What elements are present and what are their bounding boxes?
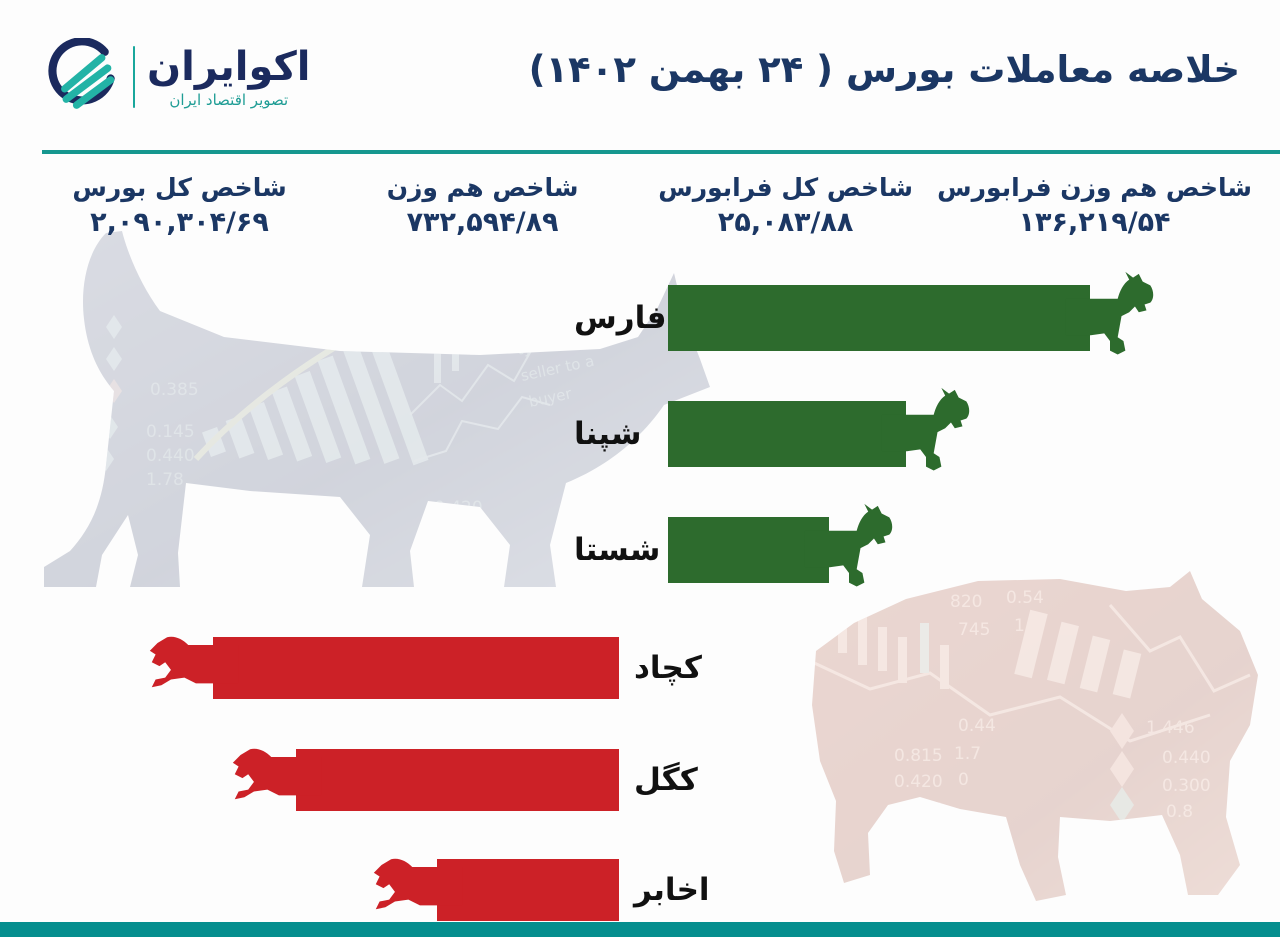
bar-label: اخابر bbox=[634, 872, 710, 908]
stat-value: ۲۵,۰۸۳/۸۸ bbox=[634, 207, 937, 239]
brand-name: اکوایران bbox=[147, 46, 311, 88]
chart-row-loser-2: کگل bbox=[0, 732, 1280, 828]
bar-label: شپنا bbox=[574, 416, 641, 452]
chart-row-gainer-3: شستا bbox=[0, 502, 1280, 598]
infographic-page: arkets me te transfer oney of a ock or s… bbox=[0, 0, 1280, 937]
logo-text-block: اکوایران تصویر اقتصاد ایران bbox=[147, 46, 311, 109]
brand-tagline: تصویر اقتصاد ایران bbox=[169, 91, 288, 109]
stat-value: ۲,۰۹۰,۳۰۴/۶۹ bbox=[28, 207, 331, 239]
bar-green[interactable] bbox=[668, 285, 1090, 351]
bull-icon bbox=[801, 502, 897, 598]
stat-farabourse-equal-weight-index: شاخص هم وزن فرابورس ۱۳۶,۲۱۹/۵۴ bbox=[937, 172, 1252, 262]
brand-logo[interactable]: اکوایران تصویر اقتصاد ایران bbox=[45, 38, 311, 116]
stat-equal-weight-index: شاخص هم وزن ۷۳۲,۵۹۴/۸۹ bbox=[331, 172, 634, 262]
bar-label: فارس bbox=[574, 300, 667, 336]
bull-icon bbox=[1062, 270, 1158, 366]
stat-farabourse-total-index: شاخص کل فرابورس ۲۵,۰۸۳/۸۸ bbox=[634, 172, 937, 262]
bar-red[interactable] bbox=[296, 749, 619, 811]
page-title: خلاصه معاملات بورس ( ۲۴ بهمن ۱۴۰۲) bbox=[529, 48, 1240, 91]
stat-label: شاخص کل فرابورس bbox=[634, 172, 937, 203]
impact-bar-chart: فارس شپنا شستا کچاد bbox=[0, 270, 1280, 900]
bar-green[interactable] bbox=[668, 401, 906, 467]
eco-swoosh-logo-icon bbox=[47, 38, 121, 116]
footer-accent-bar bbox=[0, 922, 1280, 937]
logo-divider bbox=[133, 46, 135, 108]
bear-icon bbox=[229, 741, 325, 819]
stat-label: شاخص هم وزن فرابورس bbox=[937, 172, 1252, 203]
chart-row-loser-1: کچاد bbox=[0, 620, 1280, 716]
bar-label: کگل bbox=[634, 762, 698, 798]
header: اکوایران تصویر اقتصاد ایران خلاصه معاملا… bbox=[0, 0, 1280, 150]
bear-icon bbox=[370, 851, 466, 929]
header-divider bbox=[42, 150, 1280, 154]
chart-row-gainer-2: شپنا bbox=[0, 386, 1280, 482]
bar-red[interactable] bbox=[213, 637, 619, 699]
stat-label: شاخص هم وزن bbox=[331, 172, 634, 203]
index-stats-row: شاخص کل بورس ۲,۰۹۰,۳۰۴/۶۹ شاخص هم وزن ۷۳… bbox=[0, 172, 1280, 262]
stat-total-index: شاخص کل بورس ۲,۰۹۰,۳۰۴/۶۹ bbox=[28, 172, 331, 262]
bar-label: شستا bbox=[574, 532, 660, 568]
bear-icon bbox=[146, 629, 242, 707]
stat-value: ۷۳۲,۵۹۴/۸۹ bbox=[331, 207, 634, 239]
stat-value: ۱۳۶,۲۱۹/۵۴ bbox=[937, 207, 1252, 239]
bar-label: کچاد bbox=[634, 650, 702, 686]
stat-label: شاخص کل بورس bbox=[28, 172, 331, 203]
chart-row-gainer-1: فارس bbox=[0, 270, 1280, 366]
bull-icon bbox=[878, 386, 974, 482]
